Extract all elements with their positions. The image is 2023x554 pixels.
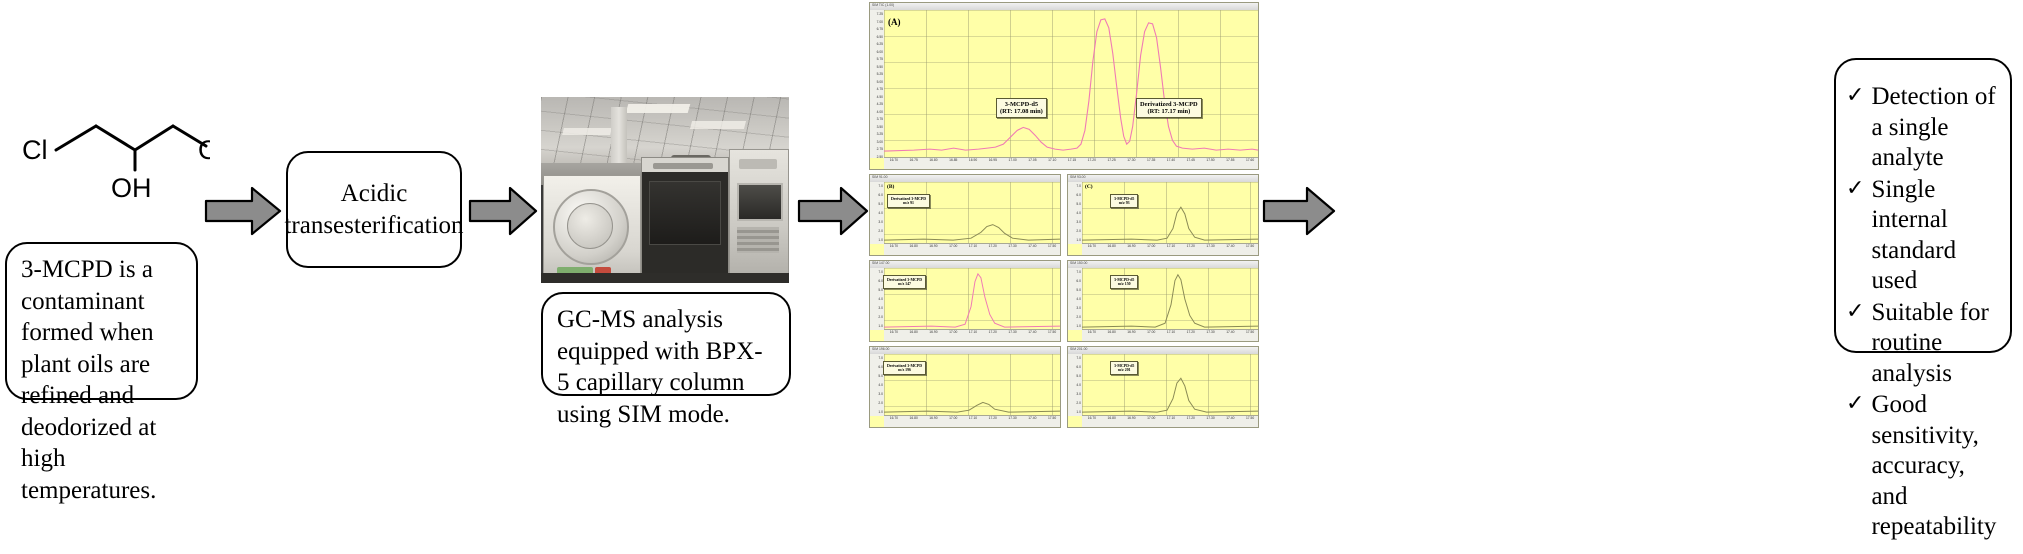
- reaction-step-text: Acidic transesterification: [288, 153, 460, 266]
- sub-panel-x-tick: 17.20: [1187, 245, 1195, 248]
- conclusion-item-label: Single internal standard used: [1871, 175, 2002, 297]
- arrow-step-3: [797, 185, 869, 237]
- chromatogram-panel-a: SIM TIC (1.00) Tic 10.000 Scale 4.101 SI…: [869, 2, 1259, 170]
- intro-text-box: 3-MCPD is a contaminant formed when plan…: [5, 242, 198, 400]
- panel-a-callout-mcpd-d5-line2: (RT: 17.08 min): [1000, 108, 1043, 116]
- sub-panel-x-tick: 16.80: [910, 245, 918, 248]
- panel-a-x-axis: 16.7016.7516.8016.8516.9016.9517.0017.05…: [884, 157, 1258, 169]
- sub-panel-x-tick: 16.90: [1127, 417, 1135, 420]
- sub-panel-y-tick: 5.0: [878, 203, 883, 206]
- panel-a-x-tick: 17.35: [1147, 159, 1155, 162]
- arrow-step-1: [204, 185, 282, 237]
- chromatogram-panel-b-row-2: SIM 147.00 7.06.05.04.03.02.01.0 Derivat…: [869, 260, 1061, 342]
- panel-a-x-tick: 17.05: [1028, 159, 1036, 162]
- panel-a-y-tick: 2.50: [877, 156, 883, 159]
- panel-a-callout-mcpd-d5-line1: 3-MCPD-d5: [1000, 101, 1043, 109]
- sub-panel-y-tick: 4.0: [878, 384, 883, 387]
- panel-b1-callout: Derivatized 3-MCPD m/z 91: [887, 194, 930, 208]
- sub-panel-x-tick: 17.40: [1226, 417, 1234, 420]
- checkmark-icon: ✓: [1846, 175, 1864, 201]
- panel-c1-callout: 3-MCPD-d5 m/z 93: [1110, 194, 1138, 208]
- sub-panel-y-tick: 7.0: [878, 357, 883, 360]
- panel-b1-y-axis: 7.06.05.04.03.02.01.0: [870, 182, 885, 244]
- chromatogram-panel-c-row-3: SIM 201.00 7.06.05.04.03.02.01.0 3-MCPD-…: [1067, 346, 1259, 428]
- panel-b3-callout: Derivatized 3-MCPD m/z 196: [883, 361, 926, 375]
- sub-panel-x-tick: 17.20: [989, 417, 997, 420]
- sub-panel-y-tick: 6.0: [1076, 366, 1081, 369]
- sub-panel-x-tick: 16.80: [1108, 245, 1116, 248]
- panel-c1-plot-area: [1082, 182, 1258, 244]
- sub-panel-x-tick: 17.00: [1147, 245, 1155, 248]
- sub-panel-x-tick: 16.70: [1088, 417, 1096, 420]
- panel-c2-header: SIM 150.00: [1070, 262, 1087, 265]
- sub-panel-y-tick: 1.0: [1076, 411, 1081, 414]
- panel-a-x-tick: 17.55: [1226, 159, 1234, 162]
- panel-a-x-tick: 16.75: [910, 159, 918, 162]
- arrow-step-2: [468, 185, 538, 237]
- sub-panel-y-tick: 7.0: [1076, 357, 1081, 360]
- sub-panel-y-tick: 3.0: [878, 307, 883, 310]
- panel-a-y-tick: 5.50: [877, 66, 883, 69]
- chromatogram-panel-b-row-1: SIM 91.00 7.06.05.04.03.02.01.0 (B) Deri…: [869, 174, 1061, 256]
- panel-a-x-tick: 17.40: [1167, 159, 1175, 162]
- panel-a-x-tick: 16.95: [989, 159, 997, 162]
- sub-panel-x-tick: 17.10: [1167, 331, 1175, 334]
- sub-panel-x-tick: 17.50: [1246, 331, 1254, 334]
- sub-panel-y-tick: 2.0: [878, 230, 883, 233]
- sub-panel-x-tick: 16.90: [1127, 245, 1135, 248]
- panel-c1-callout-line2: m/z 93: [1114, 201, 1134, 206]
- sub-panel-x-tick: 17.10: [1167, 245, 1175, 248]
- sub-panel-x-tick: 17.30: [1206, 331, 1214, 334]
- panel-a-x-tick: 17.20: [1088, 159, 1096, 162]
- sub-panel-x-tick: 16.90: [1127, 331, 1135, 334]
- sub-panel-x-tick: 16.90: [929, 331, 937, 334]
- panel-b2-header: SIM 147.00: [872, 262, 889, 265]
- sub-panel-x-tick: 17.30: [1008, 245, 1016, 248]
- sub-panel-y-tick: 3.0: [1076, 393, 1081, 396]
- sub-panel-x-tick: 17.10: [969, 245, 977, 248]
- sub-panel-x-tick: 17.10: [1167, 417, 1175, 420]
- sub-panel-y-tick: 3.0: [878, 221, 883, 224]
- panel-b2-callout: Derivatized 3-MCPD m/z 147: [883, 275, 926, 289]
- chromatogram-panel-c-row-2: SIM 150.00 7.06.05.04.03.02.01.0 3-MCPD-…: [1067, 260, 1259, 342]
- chromatogram-panel-c-row-1: SIM 93.00 7.06.05.04.03.02.01.0 (C) 3-MC…: [1067, 174, 1259, 256]
- panel-a-x-tick: 16.70: [890, 159, 898, 162]
- panel-a-letter: (A): [888, 17, 901, 27]
- svg-text:Cl: Cl: [22, 135, 48, 165]
- sub-panel-y-tick: 1.0: [878, 411, 883, 414]
- sub-panel-x-tick: 16.80: [1108, 331, 1116, 334]
- sub-panel-y-tick: 3.0: [1076, 221, 1081, 224]
- panel-a-y-tick: 6.50: [877, 36, 883, 39]
- panel-a-y-tick: 5.75: [877, 58, 883, 61]
- sub-panel-x-tick: 16.70: [890, 417, 898, 420]
- molecule-structure-3-mcpd: Cl OH OH: [10, 108, 210, 198]
- panel-a-callout-mcpd-d5: 3-MCPD-d5 (RT: 17.08 min): [996, 98, 1047, 118]
- sub-panel-x-tick: 17.30: [1008, 417, 1016, 420]
- chromatogram-panel-b-row-3: SIM 196.00 7.06.05.04.03.02.01.0 Derivat…: [869, 346, 1061, 428]
- panel-c3-y-axis: 7.06.05.04.03.02.01.0: [1068, 354, 1083, 416]
- panel-a-x-tick: 16.90: [969, 159, 977, 162]
- checkmark-icon: ✓: [1846, 82, 1864, 108]
- sub-panel-x-tick: 16.70: [1088, 245, 1096, 248]
- panel-a-x-tick: 16.80: [929, 159, 937, 162]
- sub-panel-y-tick: 4.0: [1076, 298, 1081, 301]
- sub-panel-x-tick: 17.40: [1028, 245, 1036, 248]
- sub-panel-x-tick: 17.10: [969, 417, 977, 420]
- panel-c3-callout-line2: m/z 201: [1114, 368, 1134, 373]
- sub-panel-y-tick: 1.0: [878, 325, 883, 328]
- checkmark-icon: ✓: [1846, 390, 1864, 416]
- panel-a-x-tick: 17.00: [1008, 159, 1016, 162]
- sub-panel-x-tick: 17.50: [1246, 245, 1254, 248]
- sub-panel-y-tick: 4.0: [878, 212, 883, 215]
- panel-c2-y-axis: 7.06.05.04.03.02.01.0: [1068, 268, 1083, 330]
- panel-b-letter: (B): [887, 184, 894, 190]
- sub-panel-y-tick: 7.0: [1076, 185, 1081, 188]
- sub-panel-x-tick: 17.40: [1226, 331, 1234, 334]
- sub-panel-y-tick: 2.0: [1076, 230, 1081, 233]
- panel-a-x-tick: 17.30: [1127, 159, 1135, 162]
- panel-c1-header: SIM 93.00: [1070, 176, 1085, 179]
- sub-panel-x-tick: 17.10: [969, 331, 977, 334]
- panel-b1-x-axis: 16.7016.8016.9017.0017.1017.2017.3017.40…: [884, 243, 1060, 255]
- sub-panel-y-tick: 5.0: [878, 375, 883, 378]
- sub-panel-x-tick: 16.90: [929, 245, 937, 248]
- sub-panel-x-tick: 16.90: [929, 417, 937, 420]
- sub-panel-x-tick: 17.20: [1187, 417, 1195, 420]
- panel-a-x-tick: 17.60: [1246, 159, 1254, 162]
- conclusion-box: ✓Detection of a single analyte✓Single in…: [1834, 58, 2012, 353]
- panel-a-x-tick: 17.15: [1068, 159, 1076, 162]
- conclusion-item-4: ✓Good sensitivity, accuracy, and repeata…: [1846, 390, 2002, 543]
- sub-panel-x-tick: 17.50: [1048, 331, 1056, 334]
- sub-panel-x-tick: 17.40: [1028, 417, 1036, 420]
- panel-c2-plot-area: [1082, 268, 1258, 330]
- panel-c-letter: (C): [1085, 184, 1093, 190]
- panel-a-x-tick: 17.10: [1048, 159, 1056, 162]
- panel-a-y-tick: 6.25: [877, 43, 883, 46]
- conclusion-item-3: ✓Suitable for routine analysis: [1846, 298, 2002, 390]
- panel-c2-x-axis: 16.7016.8016.9017.0017.1017.2017.3017.40…: [1082, 329, 1258, 341]
- sub-panel-y-tick: 3.0: [878, 393, 883, 396]
- checkmark-icon: ✓: [1846, 298, 1864, 324]
- sub-panel-y-tick: 7.0: [1076, 271, 1081, 274]
- instrument-caption-text: GC-MS analysis equipped with BPX-5 capil…: [543, 294, 789, 440]
- panel-a-y-tick: 7.25: [877, 13, 883, 16]
- conclusion-item-label: Good sensitivity, accuracy, and repeatab…: [1871, 390, 2002, 543]
- panel-a-callout-derivatized-mcpd-line2: (RT: 17.17 min): [1140, 108, 1198, 116]
- panel-c1-x-axis: 16.7016.8016.9017.0017.1017.2017.3017.40…: [1082, 243, 1258, 255]
- panel-a-y-tick: 6.00: [877, 51, 883, 54]
- panel-a-y-tick: 4.75: [877, 88, 883, 91]
- sub-panel-y-tick: 1.0: [878, 239, 883, 242]
- sub-panel-y-tick: 5.0: [878, 289, 883, 292]
- panel-a-y-tick: 7.00: [877, 21, 883, 24]
- conclusion-list: ✓Detection of a single analyte✓Single in…: [1836, 60, 2010, 554]
- sub-panel-x-tick: 16.80: [910, 417, 918, 420]
- panel-b3-x-axis: 16.7016.8016.9017.0017.1017.2017.3017.40…: [884, 415, 1060, 427]
- sub-panel-y-tick: 6.0: [878, 194, 883, 197]
- panel-a-x-tick: 17.50: [1206, 159, 1214, 162]
- svg-text:OH: OH: [111, 173, 152, 198]
- panel-a-y-tick: 5.00: [877, 81, 883, 84]
- panel-c3-x-axis: 16.7016.8016.9017.0017.1017.2017.3017.40…: [1082, 415, 1258, 427]
- sub-panel-y-tick: 1.0: [1076, 239, 1081, 242]
- sub-panel-x-tick: 17.40: [1028, 331, 1036, 334]
- panel-a-header-left-label: SIM TIC (1.00): [872, 4, 894, 7]
- sub-panel-x-tick: 16.80: [1108, 417, 1116, 420]
- sub-panel-y-tick: 4.0: [878, 298, 883, 301]
- panel-a-y-tick: 2.75: [877, 148, 883, 151]
- panel-c2-callout: 3-MCPD-d5 m/z 150: [1110, 275, 1138, 289]
- sub-panel-y-tick: 5.0: [1076, 375, 1081, 378]
- sub-panel-x-tick: 17.30: [1206, 417, 1214, 420]
- svg-text:OH: OH: [198, 135, 210, 165]
- sub-panel-x-tick: 17.20: [989, 245, 997, 248]
- panel-b3-header: SIM 196.00: [872, 348, 889, 351]
- sub-panel-y-tick: 2.0: [878, 402, 883, 405]
- panel-a-x-tick: 17.45: [1187, 159, 1195, 162]
- panel-a-y-tick: 3.00: [877, 141, 883, 144]
- panel-a-y-tick: 6.75: [877, 28, 883, 31]
- sub-panel-x-tick: 17.50: [1048, 245, 1056, 248]
- sub-panel-x-tick: 17.40: [1226, 245, 1234, 248]
- conclusion-item-2: ✓Single internal standard used: [1846, 175, 2002, 297]
- panel-b1-header: SIM 91.00: [872, 176, 887, 179]
- gcms-instrument-photo: [541, 97, 789, 283]
- sub-panel-x-tick: 17.00: [949, 417, 957, 420]
- sub-panel-y-tick: 2.0: [878, 316, 883, 319]
- sub-panel-y-tick: 6.0: [1076, 280, 1081, 283]
- sub-panel-x-tick: 17.50: [1246, 417, 1254, 420]
- sub-panel-y-tick: 3.0: [1076, 307, 1081, 310]
- panel-b3-callout-line2: m/z 196: [887, 368, 922, 373]
- sub-panel-y-tick: 7.0: [878, 185, 883, 188]
- panel-a-y-tick: 3.75: [877, 118, 883, 121]
- intro-text: 3-MCPD is a contaminant formed when plan…: [7, 244, 196, 516]
- conclusion-item-1: ✓Detection of a single analyte: [1846, 82, 2002, 174]
- panel-a-y-axis: 7.257.006.756.506.256.005.755.505.255.00…: [870, 10, 885, 158]
- panel-b1-callout-line2: m/z 91: [891, 201, 926, 206]
- conclusion-item-label: Detection of a single analyte: [1871, 82, 2002, 174]
- panel-b2-callout-line2: m/z 147: [887, 282, 922, 287]
- sub-panel-x-tick: 17.00: [949, 331, 957, 334]
- sub-panel-y-tick: 5.0: [1076, 203, 1081, 206]
- panel-a-y-tick: 5.25: [877, 73, 883, 76]
- chromatogram-panel-group: SIM TIC (1.00) Tic 10.000 Scale 4.101 SI…: [869, 2, 1259, 430]
- sub-panel-x-tick: 17.00: [1147, 417, 1155, 420]
- panel-c3-plot-area: [1082, 354, 1258, 416]
- panel-c1-y-axis: 7.06.05.04.03.02.01.0: [1068, 182, 1083, 244]
- panel-a-y-tick: 3.50: [877, 126, 883, 129]
- panel-a-y-tick: 4.50: [877, 96, 883, 99]
- sub-panel-x-tick: 17.30: [1206, 245, 1214, 248]
- panel-c2-callout-line2: m/z 150: [1114, 282, 1134, 287]
- sub-panel-y-tick: 6.0: [1076, 194, 1081, 197]
- sub-panel-y-tick: 4.0: [1076, 212, 1081, 215]
- panel-c3-header: SIM 201.00: [1070, 348, 1087, 351]
- panel-a-x-tick: 17.25: [1107, 159, 1115, 162]
- arrow-step-4: [1262, 185, 1336, 237]
- sub-panel-x-tick: 17.30: [1008, 331, 1016, 334]
- panel-a-x-tick: 16.85: [949, 159, 957, 162]
- panel-a-y-tick: 4.25: [877, 103, 883, 106]
- sub-panel-x-tick: 16.70: [1088, 331, 1096, 334]
- sub-panel-x-tick: 16.70: [890, 331, 898, 334]
- sub-panel-x-tick: 16.70: [890, 245, 898, 248]
- sub-panel-x-tick: 17.20: [989, 331, 997, 334]
- sub-panel-y-tick: 4.0: [1076, 384, 1081, 387]
- panel-a-callout-derivatized-mcpd-line1: Derivatized 3-MCPD: [1140, 101, 1198, 109]
- sub-panel-x-tick: 17.00: [1147, 331, 1155, 334]
- panel-c3-callout: 3-MCPD-d5 m/z 201: [1110, 361, 1138, 375]
- sub-panel-x-tick: 16.80: [910, 331, 918, 334]
- panel-a-y-tick: 3.25: [877, 133, 883, 136]
- sub-panel-y-tick: 1.0: [1076, 325, 1081, 328]
- sub-panel-y-tick: 2.0: [1076, 316, 1081, 319]
- panel-b2-x-axis: 16.7016.8016.9017.0017.1017.2017.3017.40…: [884, 329, 1060, 341]
- conclusion-item-label: Suitable for routine analysis: [1871, 298, 2002, 390]
- panel-a-y-tick: 4.00: [877, 111, 883, 114]
- panel-b1-plot-area: [884, 182, 1060, 244]
- instrument-caption-box: GC-MS analysis equipped with BPX-5 capil…: [541, 292, 791, 396]
- sub-panel-x-tick: 17.00: [949, 245, 957, 248]
- panel-a-plot-area: [884, 10, 1258, 158]
- sub-panel-x-tick: 17.50: [1048, 417, 1056, 420]
- reaction-step-box: Acidic transesterification: [286, 151, 462, 268]
- sub-panel-x-tick: 17.20: [1187, 331, 1195, 334]
- sub-panel-y-tick: 5.0: [1076, 289, 1081, 292]
- panel-a-callout-derivatized-mcpd: Derivatized 3-MCPD (RT: 17.17 min): [1136, 98, 1202, 118]
- sub-panel-y-tick: 7.0: [878, 271, 883, 274]
- sub-panel-y-tick: 2.0: [1076, 402, 1081, 405]
